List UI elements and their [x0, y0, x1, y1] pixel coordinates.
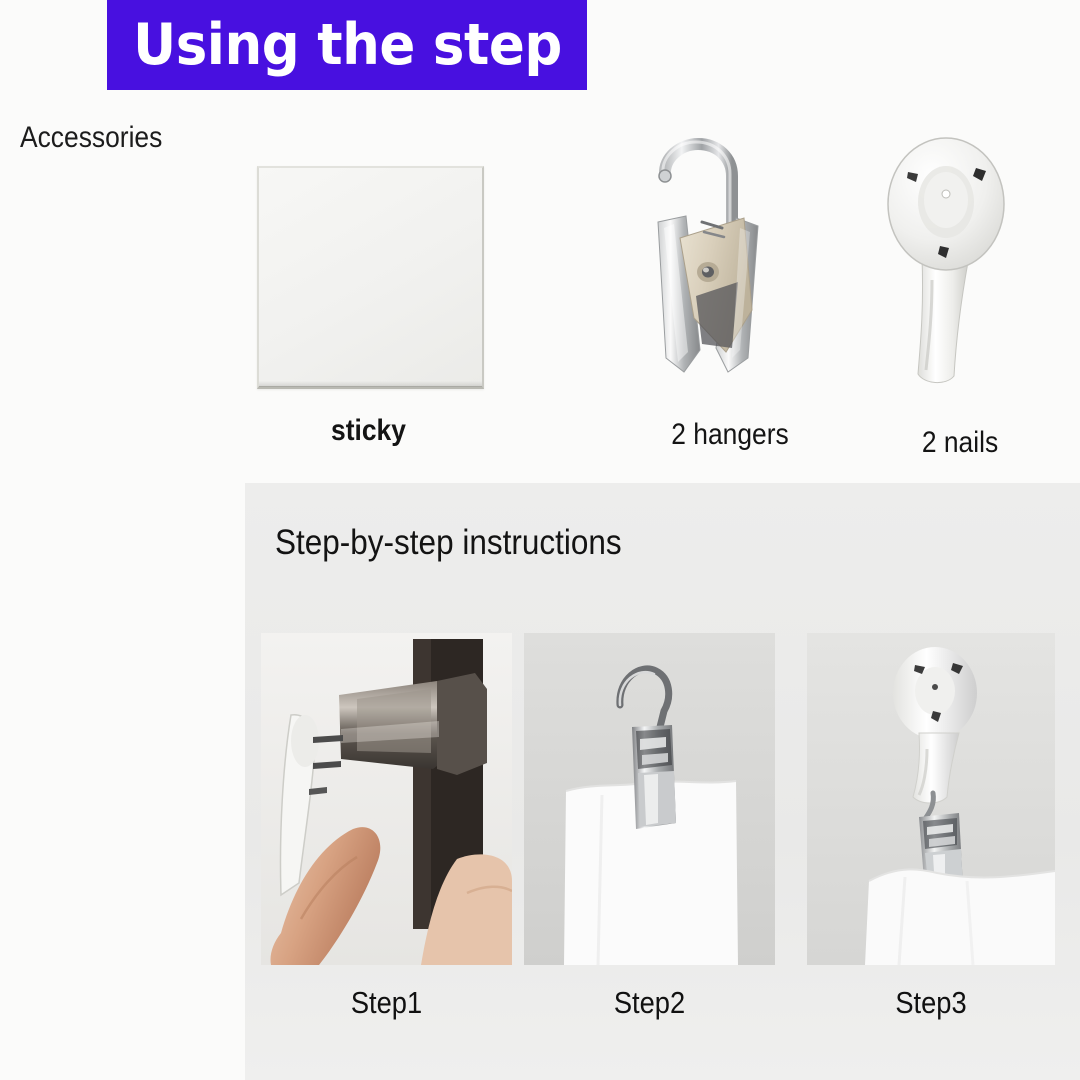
instructions-panel: Step-by-step instructions — [245, 483, 1080, 1080]
accessories-label: Accessories — [20, 121, 162, 155]
page-title: Using the step — [133, 17, 562, 74]
step-item-2: Step2 — [524, 633, 775, 965]
step-caption-3: Step3 — [822, 985, 1040, 1021]
step-item-1: Step1 — [261, 633, 512, 965]
accessory-caption-sticky: sticky — [270, 414, 466, 448]
accessory-caption-nails: 2 nails — [872, 426, 1048, 460]
accessory-caption-hangers: 2 hangers — [624, 418, 835, 452]
product-instruction-image: Using the step Accessories sticky — [0, 0, 1080, 1080]
step-caption-2: Step2 — [539, 985, 760, 1021]
steps-strip: Step1 — [245, 483, 1080, 1080]
step-caption-1: Step1 — [276, 985, 497, 1021]
title-banner: Using the step — [107, 0, 587, 90]
hook-clip-icon — [640, 100, 820, 390]
step-item-3: Step3 — [807, 633, 1055, 965]
wall-hook-icon — [880, 130, 1040, 392]
hook-with-clip-icon — [807, 633, 1055, 965]
adhesive-square-icon — [257, 166, 484, 389]
clip-holding-sheet-icon — [524, 633, 775, 965]
hand-press-hook-icon — [261, 633, 512, 965]
